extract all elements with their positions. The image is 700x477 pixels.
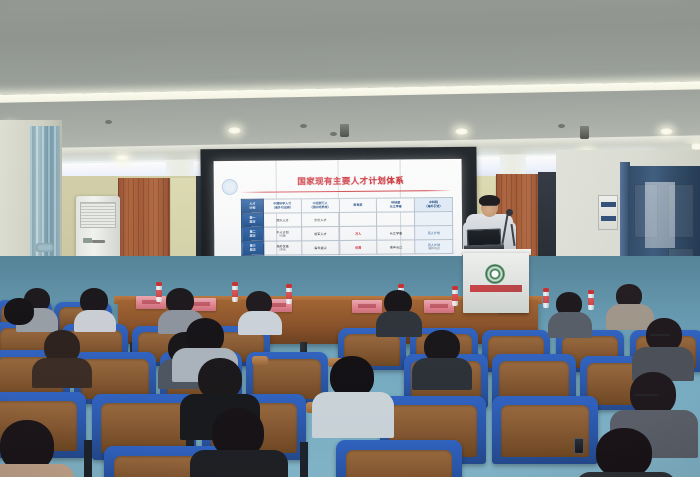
person-shoulders (412, 358, 472, 390)
ceiling-sensor-icon (330, 132, 337, 136)
table-cell (377, 212, 415, 226)
table-column-header: 科技部长江学者 (377, 198, 415, 212)
wall-control-panel[interactable] (598, 195, 618, 230)
seat-backrest-pad (253, 359, 321, 399)
bottle-cap (232, 282, 238, 286)
downlight-icon (455, 128, 468, 135)
bottle-cap (588, 290, 594, 294)
microphone-icon (506, 209, 513, 216)
bottle-label (286, 292, 292, 299)
presentation-slide[interactable]: 国家现有主要人才计划体系 人才计划 中国科学人才（海外引进类） 中组部万人（国内… (214, 159, 463, 269)
eyeglasses-icon (634, 394, 658, 396)
ceiling-sensor-icon (300, 124, 307, 128)
table-cell (339, 212, 377, 226)
table-cell: 青年拔尖 (302, 240, 340, 254)
water-bottle (588, 290, 594, 310)
bottle-label (156, 290, 162, 297)
table-row-header: 第二层次 (242, 227, 264, 241)
ceiling-sensor-icon (558, 124, 565, 128)
bottle-cap (398, 284, 404, 288)
table-cell: 优青 (339, 240, 377, 254)
ceiling-sensor-icon (105, 120, 112, 124)
table-cell: 百人计划（海外引进） (415, 239, 453, 253)
ac-brand-logo (92, 240, 105, 243)
person-head (596, 428, 652, 477)
smartphone[interactable] (574, 438, 584, 454)
bottle-cap (286, 284, 292, 288)
table-cell: 百人计划 (415, 226, 453, 240)
ceiling-camera-icon (580, 126, 589, 139)
bottle-cap (156, 282, 162, 286)
table-cell: 千人计划（长期） (264, 227, 302, 241)
table-column-header: 中科院（海外引进） (415, 198, 453, 212)
university-emblem (485, 264, 505, 284)
lecture-hall-photo: 国家现有主要人才计划体系 人才计划 中国科学人才（海外引进类） 中组部万人（国内… (0, 0, 700, 477)
water-bottle (452, 286, 458, 306)
table-cell: 杰出人才 (301, 212, 339, 226)
person-shoulders (32, 358, 92, 388)
downlight-icon (660, 128, 673, 135)
door-window-glass (645, 182, 675, 248)
person-head (4, 298, 34, 325)
table-cell: 顶尖人才 (263, 213, 301, 227)
bottle-cap (452, 286, 458, 290)
table-row-header: 第三层次 (242, 241, 264, 255)
bottle-label (452, 294, 458, 301)
person-shoulders (238, 311, 282, 335)
person-shoulders (576, 472, 676, 477)
table-cell: 海外优青（青年） (264, 241, 302, 255)
table-row: 第三层次 海外优青（青年） 青年拔尖 优青 青年长江 百人计划（海外引进） (242, 239, 453, 255)
bottle-label (543, 296, 549, 303)
table-cell (415, 212, 453, 226)
ac-display-icon (83, 238, 92, 243)
table-cell: 青年长江 (377, 240, 415, 254)
eyeglasses-icon (650, 334, 670, 336)
downlight-icon (228, 127, 241, 134)
slide-title: 国家现有主要人才计划体系 (256, 175, 446, 187)
table-cell: 长江学者 (377, 226, 415, 240)
speaker-glasses-icon (482, 205, 497, 209)
table-column-header: 教育部 (339, 198, 377, 212)
water-bottle (232, 282, 238, 302)
seat-backrest-pad (346, 450, 452, 477)
water-bottle (156, 282, 162, 302)
ceiling-camera-icon (340, 124, 349, 137)
seat-support-post (300, 442, 308, 477)
control-switch-row[interactable] (601, 202, 616, 207)
water-bottle (543, 288, 549, 308)
person-shoulders (548, 312, 592, 338)
water-bottle (286, 284, 292, 304)
person-shoulders (74, 310, 116, 332)
speaker-podium (463, 253, 529, 313)
name-card (424, 300, 454, 313)
table-column-header: 中国科学人才（海外引进类） (263, 199, 301, 213)
auditorium-seat[interactable] (336, 440, 462, 477)
name-card (352, 300, 382, 313)
slide-title-underline (240, 190, 452, 193)
table-corner-label: 人才计划 (241, 199, 263, 213)
talent-program-table: 人才计划 中国科学人才（海外引进类） 中组部万人（国内培养类） 教育部 科技部长… (241, 197, 453, 256)
university-seal-watermark (222, 179, 238, 195)
table-cell: 万人 (339, 226, 377, 240)
curtain-tieback (36, 243, 54, 252)
person-shoulders (376, 311, 422, 337)
bottle-label (588, 298, 594, 305)
table-cell: 领军人才 (301, 226, 339, 240)
person-shoulders (0, 464, 74, 477)
podium-university-name (470, 285, 522, 292)
ac-top-grille-icon (80, 202, 116, 228)
person-shoulders (312, 392, 394, 438)
control-switch-row[interactable] (601, 216, 616, 221)
person-shoulders (190, 450, 288, 477)
table-row-header: 第一层次 (241, 213, 263, 227)
seat-support-post (84, 440, 92, 477)
seat-armrest (252, 356, 268, 365)
bottle-label (232, 290, 238, 297)
table-column-header: 中组部万人（国内培养类） (301, 198, 339, 212)
bottle-cap (543, 288, 549, 292)
